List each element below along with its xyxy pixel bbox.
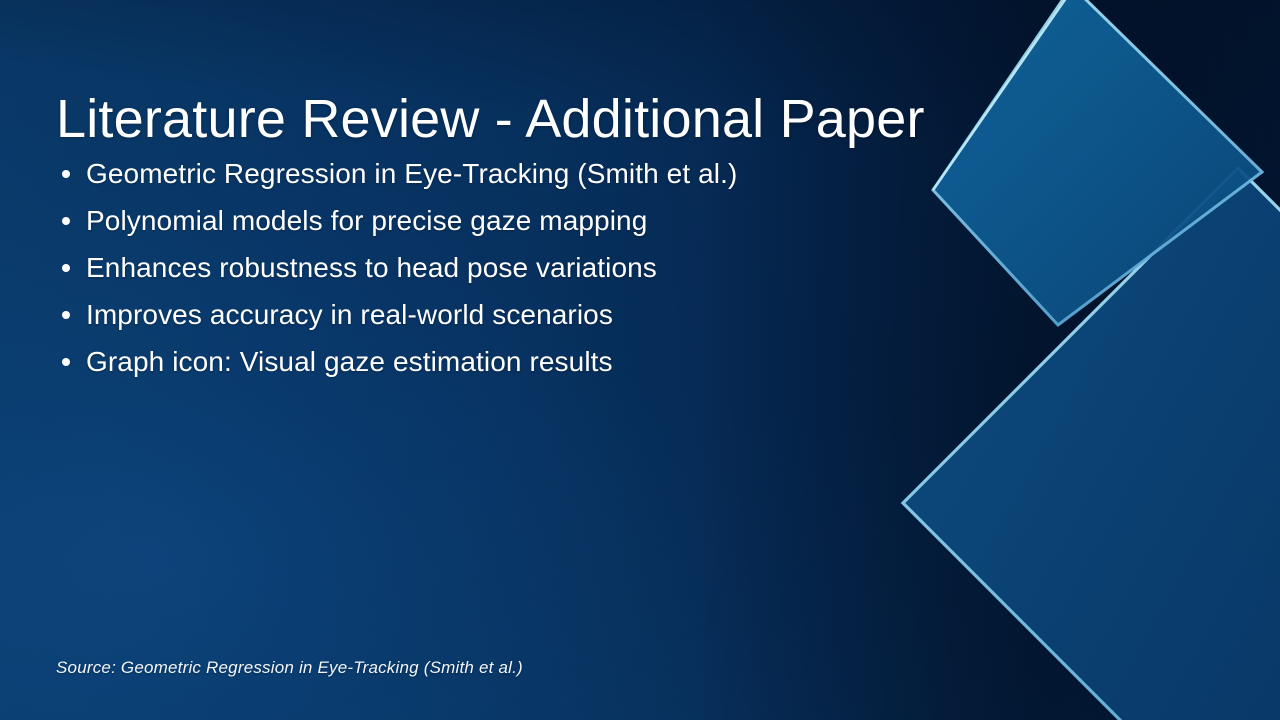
- list-item: Graph icon: Visual gaze estimation resul…: [58, 342, 938, 382]
- bullet-dot-icon: [62, 264, 70, 272]
- slide-content: Literature Review - Additional Paper Geo…: [0, 0, 1280, 720]
- list-item: Enhances robustness to head pose variati…: [58, 248, 938, 288]
- list-item-label: Improves accuracy in real-world scenario…: [86, 299, 613, 330]
- bullet-list: Geometric Regression in Eye-Tracking (Sm…: [58, 154, 938, 389]
- list-item-label: Polynomial models for precise gaze mappi…: [86, 205, 647, 236]
- slide-canvas: Literature Review - Additional Paper Geo…: [0, 0, 1280, 720]
- list-item: Polynomial models for precise gaze mappi…: [58, 201, 938, 241]
- bullet-dot-icon: [62, 217, 70, 225]
- bullet-dot-icon: [62, 311, 70, 319]
- list-item: Geometric Regression in Eye-Tracking (Sm…: [58, 154, 938, 194]
- page-title: Literature Review - Additional Paper: [56, 88, 925, 150]
- list-item: Improves accuracy in real-world scenario…: [58, 295, 938, 335]
- list-item-label: Graph icon: Visual gaze estimation resul…: [86, 346, 613, 377]
- list-item-label: Geometric Regression in Eye-Tracking (Sm…: [86, 158, 737, 189]
- source-citation: Source: Geometric Regression in Eye-Trac…: [56, 656, 523, 680]
- bullet-dot-icon: [62, 358, 70, 366]
- list-item-label: Enhances robustness to head pose variati…: [86, 252, 657, 283]
- bullet-dot-icon: [62, 170, 70, 178]
